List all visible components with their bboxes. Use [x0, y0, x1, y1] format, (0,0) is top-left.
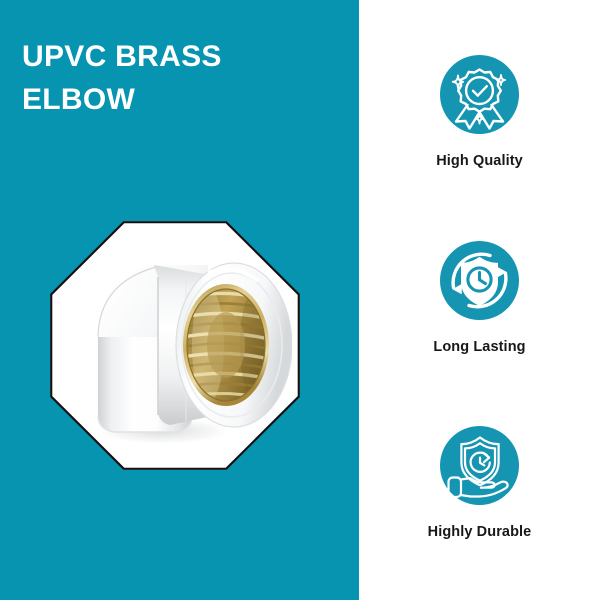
product-frame — [50, 221, 300, 470]
page-title: UPVC BRASS ELBOW — [22, 36, 342, 121]
feature-label-high-quality: High Quality — [359, 153, 600, 169]
shield-clock-refresh-icon — [440, 241, 519, 320]
product-photo-upvc-brass-elbow — [58, 233, 292, 458]
brass-bore-opening — [207, 312, 245, 378]
feature-item-high-quality: High Quality — [359, 55, 600, 169]
feature-label-highly-durable: Highly Durable — [359, 524, 600, 540]
quality-badge-icon — [440, 55, 519, 134]
product-banner: UPVC BRASS ELBOW — [0, 0, 600, 600]
left-teal-panel: UPVC BRASS ELBOW — [0, 0, 359, 600]
hand-holding-shield-icon — [440, 426, 519, 505]
feature-list: High Quality — [359, 0, 600, 600]
feature-item-highly-durable: Highly Durable — [359, 426, 600, 540]
feature-item-long-lasting: Long Lasting — [359, 241, 600, 355]
feature-label-long-lasting: Long Lasting — [359, 339, 600, 355]
